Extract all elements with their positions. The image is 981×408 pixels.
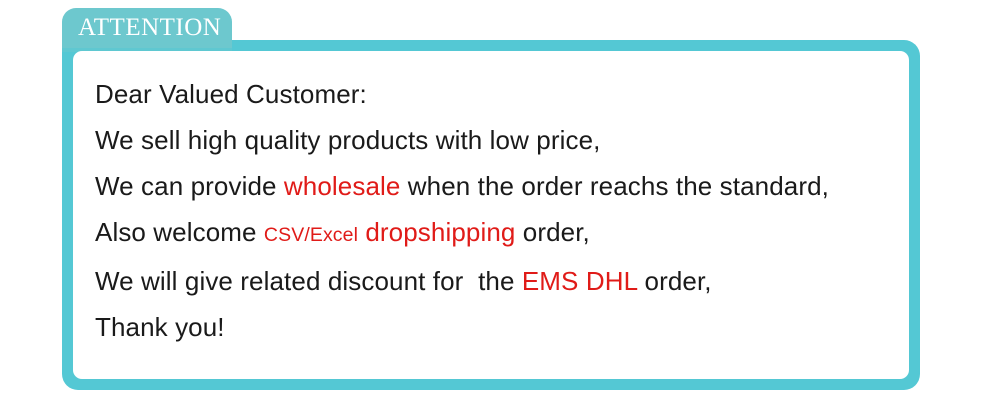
notice-line-greeting: Dear Valued Customer: xyxy=(95,71,899,117)
notice-highlight-segment: EMS DHL xyxy=(522,266,637,296)
notice-text-segment: order, xyxy=(637,266,711,296)
attention-tab: ATTENTION xyxy=(62,8,232,48)
notice-text-block: Dear Valued Customer:We sell high qualit… xyxy=(95,71,899,350)
notice-highlight-segment: dropshipping xyxy=(365,217,515,247)
notice-line-dropshipping: Also welcome CSV/Excel dropshipping orde… xyxy=(95,209,899,258)
notice-text-segment: Dear Valued Customer: xyxy=(95,79,367,109)
notice-content-panel: Dear Valued Customer:We sell high qualit… xyxy=(73,51,909,379)
notice-line-wholesale: We can provide wholesale when the order … xyxy=(95,163,899,209)
notice-text-segment: Also welcome xyxy=(95,217,264,247)
notice-text-segment: We sell high quality products with low p… xyxy=(95,125,600,155)
notice-highlight-segment: CSV/Excel xyxy=(264,224,358,246)
attention-tab-label: ATTENTION xyxy=(78,12,221,43)
notice-text-segment: Thank you! xyxy=(95,312,225,342)
notice-highlight-segment: wholesale xyxy=(284,171,401,201)
attention-notice-banner: ATTENTION Dear Valued Customer:We sell h… xyxy=(62,8,920,390)
notice-text-segment: We can provide xyxy=(95,171,284,201)
notice-text-segment: when the order reachs the standard, xyxy=(400,171,829,201)
notice-line-shipping-discount: We will give related discount for the EM… xyxy=(95,258,899,304)
notice-text-segment: order, xyxy=(515,217,589,247)
notice-text-segment: We will give related discount for the xyxy=(95,266,522,296)
notice-line-thanks: Thank you! xyxy=(95,304,899,350)
notice-line-quality-price: We sell high quality products with low p… xyxy=(95,117,899,163)
